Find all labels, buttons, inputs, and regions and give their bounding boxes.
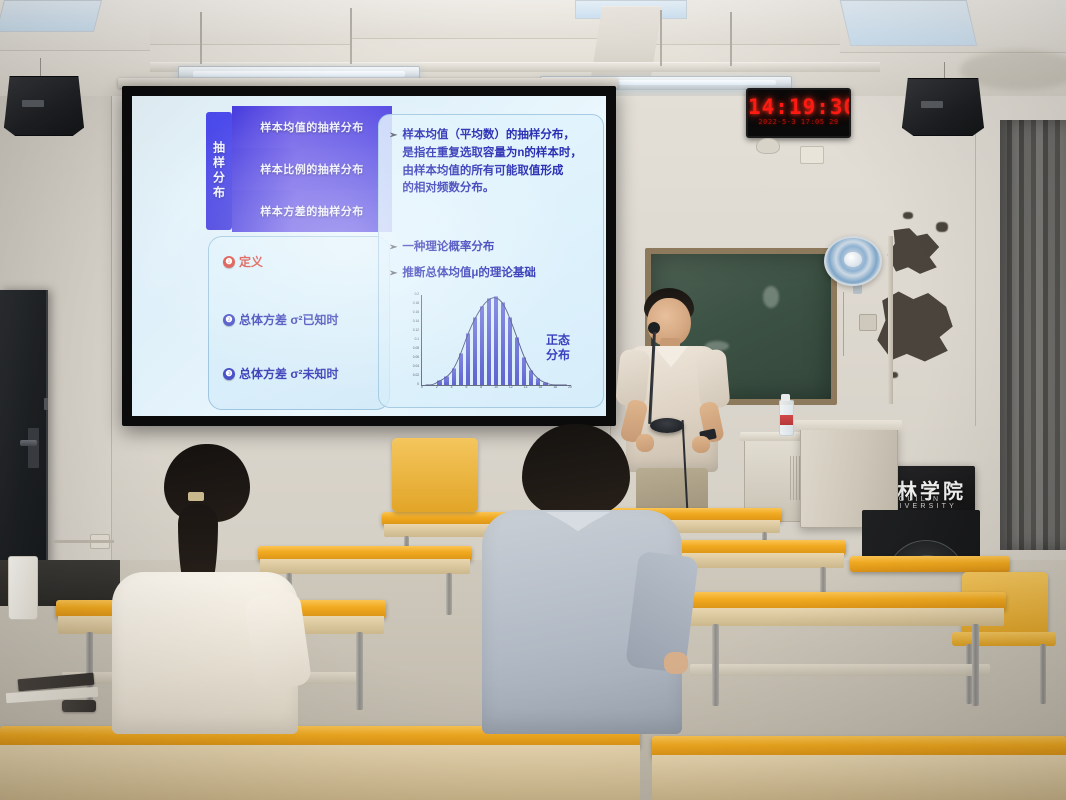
water-bottle[interactable] — [779, 400, 794, 436]
chart-x-tick-label: 2 — [436, 386, 438, 389]
slide-nav-item-1[interactable]: 样本比例的抽样分布 — [232, 148, 392, 191]
chart-y-tick-label: 0.02 — [413, 374, 419, 377]
slide-outline-label: 总体方差 σ²未知时 — [239, 365, 339, 382]
chart-y-tick-label: 0.08 — [413, 347, 419, 350]
chart-x-tick-label: 6 — [465, 386, 467, 389]
chart-y-tick-label: 0.12 — [413, 329, 419, 332]
slide-nav-group: 样本均值的抽样分布 样本比例的抽样分布 样本方差的抽样分布 — [232, 106, 392, 232]
chart-caption-line: 分布 — [529, 348, 587, 363]
slide-outline-label: 定义 — [239, 253, 263, 270]
chart-y-tick-label: 0.1 — [415, 338, 419, 341]
desk-foreground-right-front — [652, 755, 1066, 800]
bullet-number-icon: ❸ — [223, 368, 235, 380]
classroom-scene: 14:19:30 2022-5-3 17:05 29 抽样分布 样本均值的抽样分… — [0, 0, 1066, 800]
bullet-arrow-icon: ➢ — [389, 265, 397, 282]
wall-switch[interactable] — [859, 314, 877, 331]
slide-bullet-line: 的相对频数分布。 — [402, 180, 582, 198]
wall-outlet-right[interactable] — [800, 146, 824, 164]
skylight-left — [0, 0, 102, 32]
ceiling-camera — [756, 138, 780, 154]
chart-x-tick-label: 12 — [509, 386, 513, 389]
slide-vertical-title: 抽样分布 — [206, 112, 232, 230]
chart-x-tick-label: 8 — [480, 386, 482, 389]
bullet-arrow-icon: ➢ — [389, 239, 397, 256]
chart-y-tick-label: 0.16 — [413, 311, 419, 314]
student2-hand — [664, 652, 688, 674]
ceiling-beam-center — [590, 6, 663, 85]
chart-y-tick-label: 0.04 — [413, 365, 419, 368]
chart-caption-line: 正态 — [529, 333, 587, 348]
slide-nav-item-2[interactable]: 样本方差的抽样分布 — [232, 190, 392, 232]
door-hinge — [44, 398, 48, 410]
slide-outline-row-0[interactable]: ❶ 定义 — [223, 253, 263, 270]
door-lock-plate[interactable] — [28, 428, 39, 468]
slide-content: 抽样分布 样本均值的抽样分布 样本比例的抽样分布 样本方差的抽样分布 ❶ 定义 … — [132, 96, 606, 416]
slide-bullet-0: ➢ 样本均值（平均数）的抽样分布， 是指在重复选取容量为n的样本时， 由样本均值… — [389, 127, 595, 198]
projection-screen: 抽样分布 样本均值的抽样分布 样本比例的抽样分布 样本方差的抽样分布 ❶ 定义 … — [122, 86, 616, 426]
student2-hair — [522, 424, 630, 516]
slide-bullet-line: 是指在重复选取容量为n的样本时， — [402, 145, 582, 163]
desk-shelf-right — [690, 664, 990, 676]
chart-caption: 正态 分布 — [529, 333, 587, 363]
presenter-sleeve-right — [696, 349, 731, 409]
bottle-cap — [781, 394, 790, 401]
door-handle[interactable] — [20, 440, 37, 446]
chart-y-tick-label: 0 — [417, 383, 419, 386]
student1-hair-clip — [188, 492, 204, 501]
chart-x-tick-label: 16 — [539, 386, 543, 389]
fan-cord — [843, 292, 844, 356]
student1-arm — [244, 591, 313, 692]
desk-row1-right-front — [682, 608, 1004, 626]
student-front-left — [112, 444, 308, 734]
slide-text-card: ➢ 样本均值（平均数）的抽样分布， 是指在重复选取容量为n的样本时， 由样本均值… — [378, 114, 604, 408]
slide-bullet-text: 样本均值（平均数）的抽样分布， 是指在重复选取容量为n的样本时， 由样本均值的所… — [402, 127, 582, 198]
chart-x-tick-label: 4 — [451, 386, 453, 389]
skylight-right-2 — [840, 0, 978, 46]
bullet-number-icon: ❷ — [223, 314, 235, 326]
chart-x-tick-label: 14 — [524, 386, 528, 389]
wall-speaker-right — [902, 78, 984, 136]
small-object-on-shelf[interactable] — [62, 700, 96, 712]
desk-row2-far-right[interactable] — [850, 556, 1010, 572]
slide-outline-row-2[interactable]: ❸ 总体方差 σ²未知时 — [223, 365, 339, 382]
chart-y-tick-label: 0.2 — [415, 293, 419, 296]
student2-arm — [625, 551, 699, 673]
digital-clock: 14:19:30 2022-5-3 17:05 29 — [746, 88, 851, 138]
thermos-cup[interactable] — [8, 556, 38, 620]
wall-damage-fleck-1 — [903, 212, 913, 219]
slide-outline-row-1[interactable]: ❷ 总体方差 σ²已知时 — [223, 311, 339, 328]
presenter-sleeve-left — [615, 349, 651, 408]
desk-foreground-front — [0, 745, 640, 800]
wall-fan[interactable] — [824, 236, 882, 286]
bullet-arrow-icon: ➢ — [389, 127, 397, 144]
wall-damage-fleck-3 — [936, 222, 948, 232]
slide-outline-card: ❶ 定义 ❷ 总体方差 σ²已知时 ❸ 总体方差 σ²未知时 — [208, 236, 390, 410]
slide-bullet-1: ➢ 一种理论概率分布 — [389, 239, 595, 257]
baseboard-trim — [52, 540, 114, 543]
slide-bullet-line: 样本均值（平均数）的抽样分布， — [402, 127, 582, 145]
window-curtain[interactable] — [1000, 120, 1066, 550]
podium-top-surface — [794, 420, 902, 430]
slide-bullet-text: 一种理论概率分布 — [402, 239, 494, 257]
chart-y-tick-label: 0.14 — [413, 320, 419, 323]
chart-x-tick-label: 10 — [494, 386, 498, 389]
clock-date: 2022-5-3 17:05 29 — [748, 119, 849, 126]
student-front-center — [482, 424, 696, 734]
slide-outline-label: 总体方差 σ²已知时 — [239, 311, 339, 328]
chair-back-row3[interactable] — [392, 438, 478, 512]
chart-x-tick-label: 18 — [553, 386, 557, 389]
chart-y-tick-label: 0.06 — [413, 356, 419, 359]
chart-y-tick-label: 0.18 — [413, 302, 419, 305]
clock-time: 14:19:30 — [748, 97, 849, 118]
slide-nav-item-0[interactable]: 样本均值的抽样分布 — [232, 106, 392, 149]
slide-bullet-line: 由样本均值的所有可能取值形成 — [402, 163, 582, 181]
chart-x-tick-label: 0 — [421, 386, 423, 389]
bullet-number-icon: ❶ — [223, 256, 235, 268]
wall-pipe — [888, 236, 893, 404]
wall-speaker-left — [4, 76, 84, 136]
chart-x-tick-label: 20 — [568, 386, 572, 389]
slide-bullet-text: 推断总体均值μ的理论基础 — [402, 265, 536, 283]
slide-bullet-2: ➢ 推断总体均值μ的理论基础 — [389, 265, 595, 283]
